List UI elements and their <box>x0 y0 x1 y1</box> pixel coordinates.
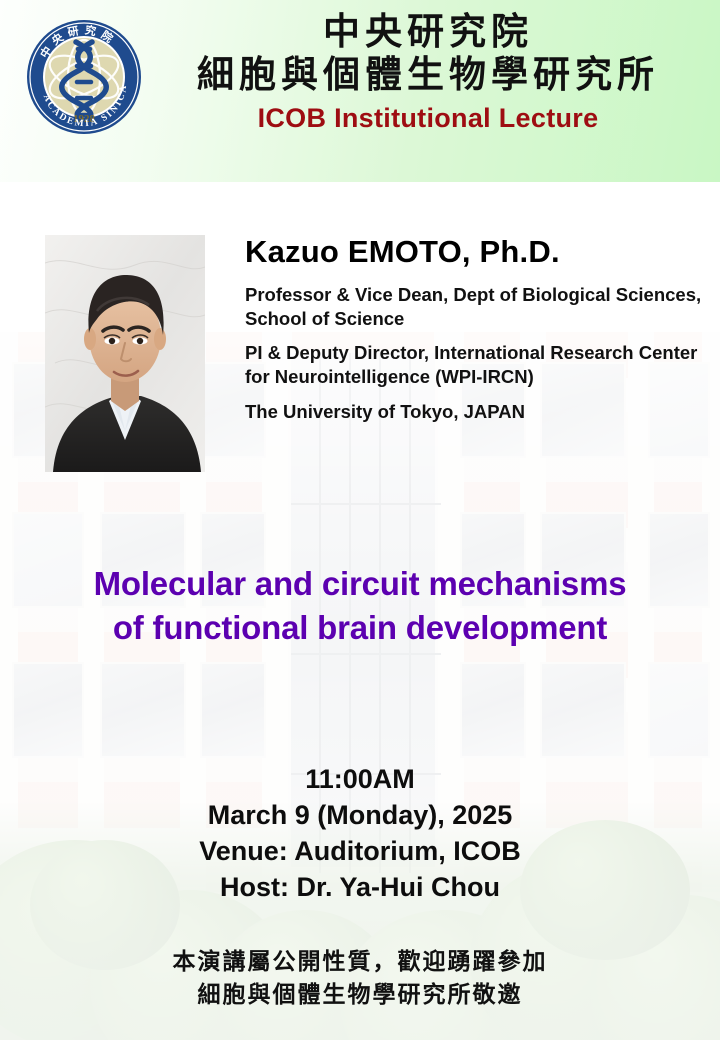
event-host: Host: Dr. Ya-Hui Chou <box>0 870 720 906</box>
event-date: March 9 (Monday), 2025 <box>0 798 720 834</box>
lecture-series-label: ICOB Institutional Lecture <box>150 103 706 134</box>
talk-title: Molecular and circuit mechanisms of func… <box>0 562 720 649</box>
org-name-line2: 細胞與個體生物學研究所 <box>150 55 706 96</box>
poster-header: 1928 ACADEMIA SINICA 中央研究院 中央研究院 細胞與個體生物… <box>0 0 720 182</box>
speaker-affiliation-2: PI & Deputy Director, International Rese… <box>245 341 705 388</box>
talk-title-line2: of functional brain development <box>0 606 720 650</box>
footer-invitation-note: 本演講屬公開性質，歡迎踴躍參加 細胞與個體生物學研究所敬邀 <box>0 946 720 1011</box>
talk-title-line1: Molecular and circuit mechanisms <box>0 562 720 606</box>
speaker-name: Kazuo EMOTO, Ph.D. <box>245 235 705 269</box>
footer-note-line2: 細胞與個體生物學研究所敬邀 <box>0 979 720 1012</box>
event-details: 11:00AM March 9 (Monday), 2025 Venue: Au… <box>0 762 720 906</box>
speaker-affiliation-1: Professor & Vice Dean, Dept of Biologica… <box>245 283 705 330</box>
header-text-block: 中央研究院 細胞與個體生物學研究所 ICOB Institutional Lec… <box>150 12 706 134</box>
org-name-line1: 中央研究院 <box>150 12 706 53</box>
speaker-portrait-photo <box>45 235 205 472</box>
footer-note-line1: 本演講屬公開性質，歡迎踴躍參加 <box>0 946 720 979</box>
academia-sinica-logo-icon: 1928 ACADEMIA SINICA 中央研究院 <box>25 18 143 136</box>
event-venue: Venue: Auditorium, ICOB <box>0 834 720 870</box>
speaker-affiliation-3: The University of Tokyo, JAPAN <box>245 400 705 424</box>
lecture-poster: 1928 ACADEMIA SINICA 中央研究院 中央研究院 細胞與個體生物… <box>0 0 720 1040</box>
event-time: 11:00AM <box>0 762 720 798</box>
speaker-details: Kazuo EMOTO, Ph.D. Professor & Vice Dean… <box>245 235 705 434</box>
